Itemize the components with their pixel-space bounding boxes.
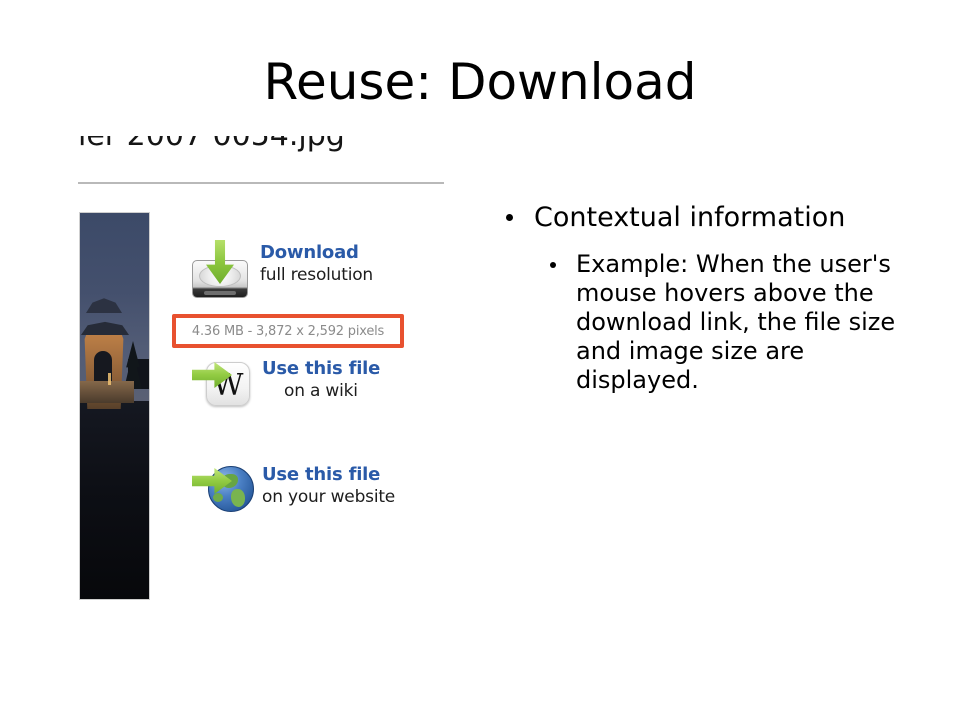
use-on-website-row[interactable]: Use this file on your website (182, 460, 442, 522)
wiki-w-glyph: W (206, 362, 250, 406)
bullet-list: Contextual information Example: When the… (498, 200, 918, 395)
download-link-row[interactable]: Download full resolution (180, 238, 440, 314)
download-text-block: Download full resolution (260, 242, 373, 286)
download-link-sublabel: full resolution (260, 264, 373, 286)
use-on-website-label[interactable]: Use this file (262, 464, 395, 486)
file-name-heading: ier 2007 0054.jpg (78, 136, 448, 180)
globe-icon (192, 460, 252, 518)
globe-landmass (213, 493, 223, 502)
bullet-level1-text: Contextual information (534, 202, 845, 233)
photo-base (80, 381, 134, 403)
hard-drive-download-icon (188, 240, 252, 302)
download-link-label[interactable]: Download (260, 242, 373, 264)
divider (78, 182, 444, 184)
bullet-level1: Contextual information (498, 200, 918, 236)
bullet-level2: Example: When the user's mouse hovers ab… (540, 250, 918, 395)
bullet-dot-icon (550, 262, 556, 268)
use-on-wiki-row[interactable]: W Use this file on a wiki (182, 354, 442, 416)
use-on-wiki-label[interactable]: Use this file (262, 358, 380, 380)
page-title: Reuse: Download (0, 52, 960, 112)
use-on-website-sublabel: on your website (262, 486, 395, 508)
hard-drive-slot (204, 291, 236, 295)
filesize-tooltip-highlight: 4.36 MB - 3,872 x 2,592 pixels (172, 314, 404, 348)
photo-ground (80, 401, 149, 599)
bullet-level2-text: Example: When the user's mouse hovers ab… (576, 250, 895, 394)
file-name-text: ier 2007 0054.jpg (78, 136, 345, 153)
thumbnail-image (79, 212, 150, 600)
wiki-text-block: Use this file on a wiki (262, 358, 380, 402)
use-on-wiki-sublabel: on a wiki (262, 380, 380, 402)
photo-lamp (108, 373, 111, 385)
bullet-dot-icon (506, 214, 513, 221)
wikipedia-w-icon: W (192, 354, 252, 412)
embedded-screenshot: ier 2007 0054.jpg Download full resoluti… (76, 142, 456, 602)
globe-landmass (231, 489, 245, 507)
filesize-tooltip-text: 4.36 MB - 3,872 x 2,592 pixels (176, 324, 400, 339)
website-text-block: Use this file on your website (262, 464, 395, 508)
